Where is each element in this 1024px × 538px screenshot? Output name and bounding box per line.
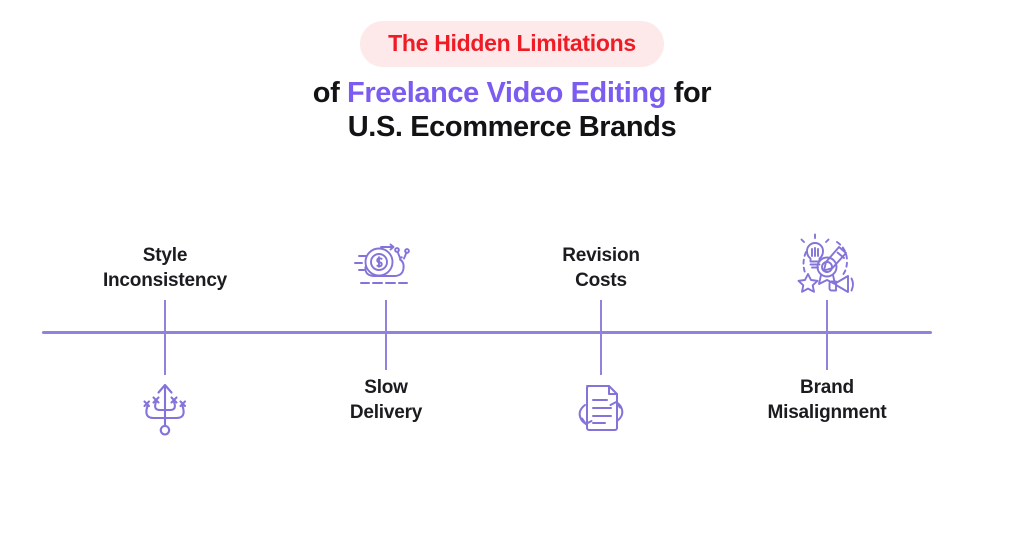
money-snail-icon [347,232,425,296]
document-revision-icon [562,375,640,439]
page-title: of Freelance Video Editing for U.S. Ecom… [0,76,1024,144]
timeline-connector [826,300,828,370]
headline-line-3: U.S. Ecommerce Brands [0,110,1024,144]
timeline-item-label: Slow Delivery [266,375,506,425]
headline-line2-pre: of [313,77,347,109]
timeline-connector [164,300,166,375]
timeline-item-label-line2: Inconsistency [45,268,285,293]
timeline-item-label: Brand Misalignment [707,375,947,425]
headline-line2-post: for [666,77,711,109]
timeline-item-label: Style Inconsistency [45,243,285,293]
badge-row: The Hidden Limitations [0,21,1024,67]
timeline-item-label-line1: Brand [707,375,947,400]
timeline-item-label-line2: Delivery [266,400,506,425]
timeline-item-label-line1: Style [45,243,285,268]
title-block: The Hidden Limitations of Freelance Vide… [0,0,1024,144]
timeline-axis [42,331,932,334]
timeline-item-label-line1: Revision [481,243,721,268]
headline-line-2: of Freelance Video Editing for [0,76,1024,110]
headline-line2-accent: Freelance Video Editing [347,77,666,109]
timeline-item-label-line1: Slow [266,375,506,400]
timeline-item-label-line2: Costs [481,268,721,293]
timeline-item-label-line2: Misalignment [707,400,947,425]
brand-identity-icon [788,232,866,296]
timeline-connector [385,300,387,370]
timeline-item-label: Revision Costs [481,243,721,293]
timeline-connector [600,300,602,375]
strategy-arrow-icon [126,375,204,439]
headline-badge: The Hidden Limitations [360,21,664,67]
